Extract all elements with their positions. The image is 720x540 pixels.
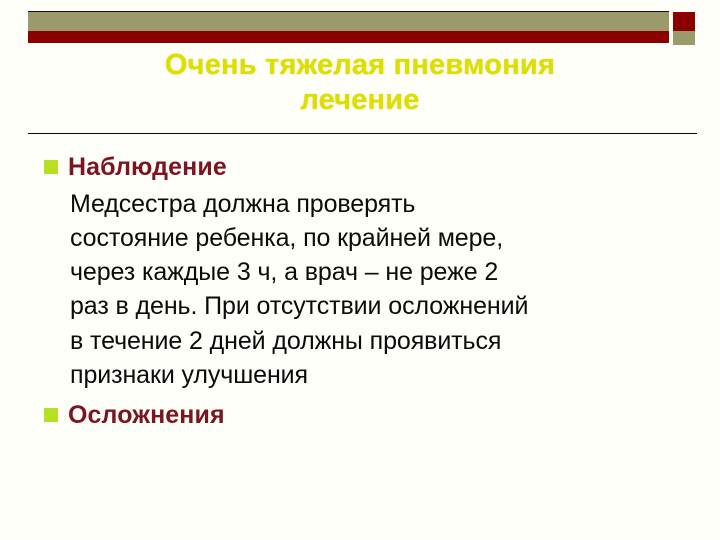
observation-paragraph: Медсестра должна проверять состояние реб…: [28, 187, 692, 393]
decoration-red-bar: [28, 31, 669, 43]
square-bullet-icon: [44, 160, 58, 174]
paragraph-line: в течение 2 дней должны проявиться: [70, 324, 692, 358]
slide-title: Очень тяжелая пневмония лечение: [60, 48, 660, 119]
paragraph-line: через каждые 3 ч, а врач – не реже 2: [70, 255, 692, 289]
bullet-item-label: Осложнения: [68, 398, 225, 433]
paragraph-line: признаки улучшения: [70, 358, 692, 392]
slide-title-line-1: Очень тяжелая пневмония: [60, 48, 660, 83]
square-bullet-icon: [44, 408, 58, 422]
title-divider: [28, 133, 697, 134]
bullet-item-complications: Осложнения: [28, 398, 692, 433]
bullet-item-label: Наблюдение: [68, 150, 227, 185]
slide: Очень тяжелая пневмония лечение Наблюден…: [0, 0, 720, 540]
slide-title-line-2: лечение: [60, 83, 660, 118]
slide-body: Наблюдение Медсестра должна проверять со…: [28, 150, 692, 433]
bullet-item-observation: Наблюдение: [28, 150, 692, 185]
paragraph-line: состояние ребенка, по крайней мере,: [70, 221, 692, 255]
decoration-red-square: [673, 12, 695, 31]
header-decoration: [28, 11, 697, 43]
paragraph-line: раз в день. При отсутствии осложнений: [70, 289, 692, 323]
paragraph-line: Медсестра должна проверять: [70, 187, 692, 221]
decoration-olive-bar: [28, 11, 669, 31]
decoration-olive-square: [673, 31, 695, 45]
